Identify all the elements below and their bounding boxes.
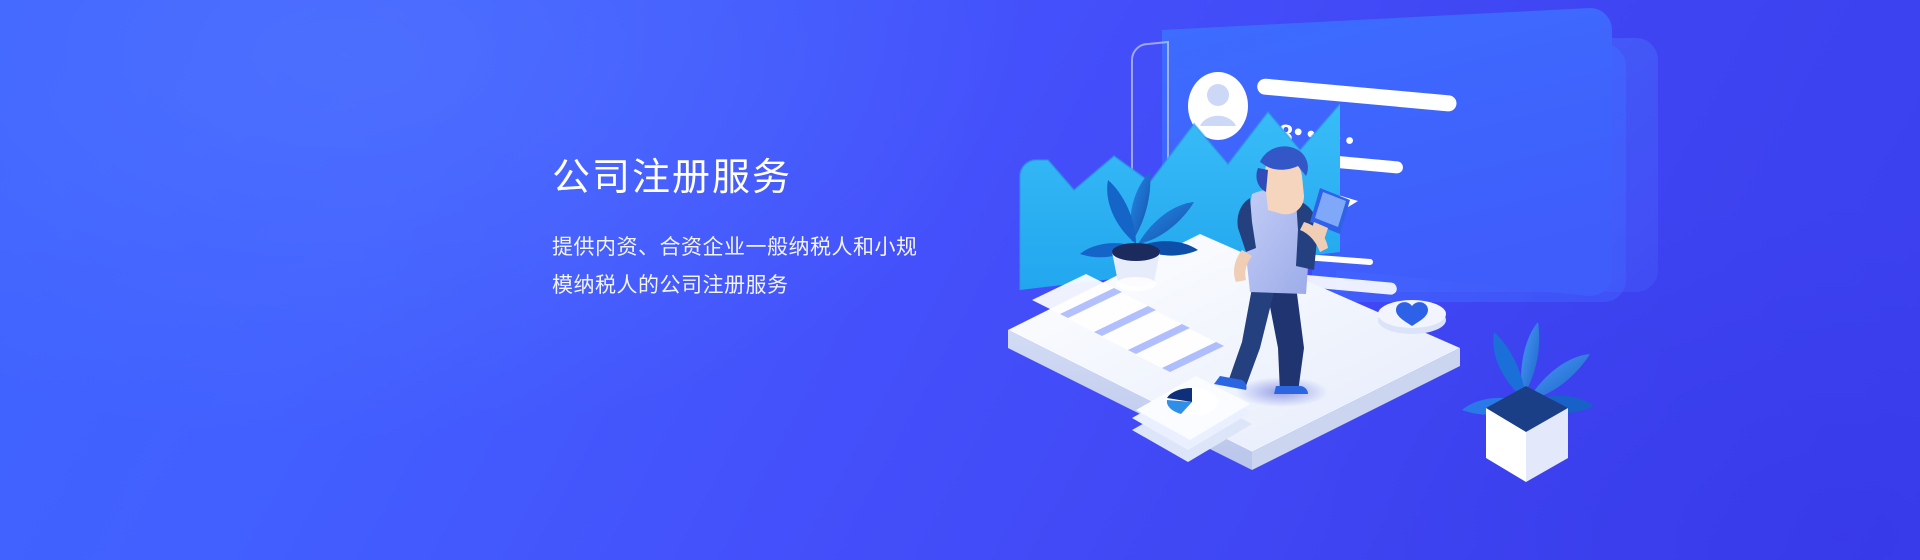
hero-illustration: 4.8 <box>900 0 1920 560</box>
page-title: 公司注册服务 <box>552 155 918 201</box>
hero-copy-block: 公司注册服务 提供内资、合资企业一般纳税人和小规 模纳税人的公司注册服务 <box>552 155 918 305</box>
hero-subtitle: 提供内资、合资企业一般纳税人和小规 模纳税人的公司注册服务 <box>552 229 918 305</box>
potted-plant-right <box>1462 322 1594 482</box>
hero-subtitle-line-2: 模纳税人的公司注册服务 <box>552 267 918 305</box>
hero-subtitle-line-1: 提供内资、合资企业一般纳税人和小规 <box>552 229 918 267</box>
hero-banner: 公司注册服务 提供内资、合资企业一般纳税人和小规 模纳税人的公司注册服务 <box>0 0 1920 560</box>
pie-chart-icon <box>1166 388 1218 416</box>
heart-badge-tile <box>1378 300 1446 334</box>
